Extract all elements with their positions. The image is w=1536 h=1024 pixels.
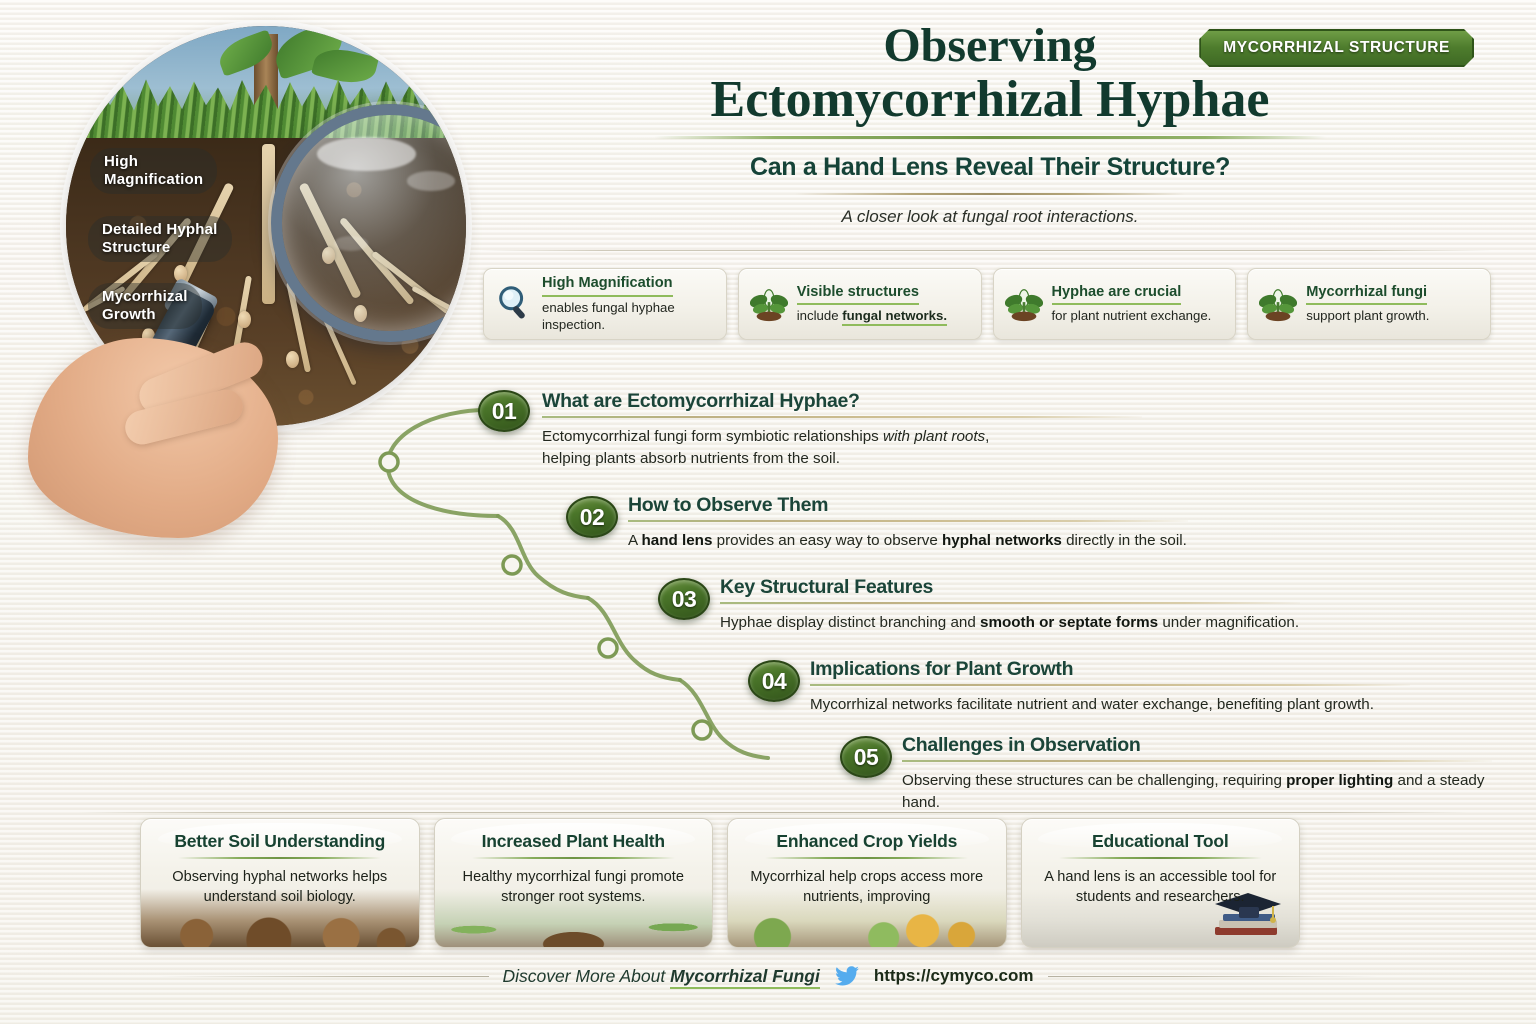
hero-label-mycorrhizal-growth: Mycorrhizal Growth (88, 283, 202, 329)
hero-label-high-magnification: High Magnification (90, 148, 217, 194)
step-title-rule (902, 760, 1492, 762)
infographic-page: High Magnification Detailed Hyphal Struc… (0, 0, 1536, 1024)
benefit-card-description: Healthy mycorrhizal fungi promote strong… (447, 868, 701, 907)
fact-card-detail: enables fungal hyphae inspection. (542, 300, 675, 333)
step-title-rule (542, 416, 1142, 418)
step-body: How to Observe ThemA hand lens provides … (628, 494, 1188, 552)
page-title-line2: Ectomycorrhizal Hyphae (490, 73, 1490, 126)
step-title: Challenges in Observation (902, 734, 1492, 757)
step-title-rule (720, 602, 1300, 604)
step-description: Ectomycorrhizal fungi form symbiotic rel… (542, 426, 1142, 469)
benefit-title-rule (178, 857, 381, 859)
footer-cta-bold: Mycorrhizal Fungi (670, 966, 820, 989)
step-number-badge[interactable]: 02 (566, 496, 618, 538)
step-number-badge[interactable]: 03 (658, 578, 710, 620)
fact-card-detail: support plant growth. (1306, 308, 1429, 323)
steps-timeline: 01What are Ectomycorrhizal Hyphae?Ectomy… (370, 378, 1490, 798)
title-underline-rule (654, 136, 1326, 139)
seedling-icon (750, 284, 788, 324)
benefit-card-title: Educational Tool (1034, 831, 1288, 852)
fact-card[interactable]: Visible structuresinclude fungal network… (738, 268, 982, 340)
step-body: Challenges in ObservationObserving these… (902, 734, 1492, 813)
fact-card-text: Mycorrhizal fungisupport plant growth. (1306, 283, 1429, 325)
fact-card-text: High Magnificationenables fungal hyphae … (542, 274, 715, 334)
fact-card-detail: for plant nutrient exchange. (1052, 308, 1212, 323)
step-number: 01 (492, 398, 517, 425)
page-subtitle: Can a Hand Lens Reveal Their Structure? (490, 153, 1490, 182)
seedling-icon (1259, 284, 1297, 324)
benefit-card-title: Better Soil Understanding (153, 831, 407, 852)
fact-card-headline: Visible structures (797, 283, 919, 305)
step-title-rule (810, 684, 1410, 686)
fact-detail-plain: include (797, 308, 842, 323)
benefits-divider (78, 812, 1468, 813)
step-body: What are Ectomycorrhizal Hyphae?Ectomyco… (542, 390, 1142, 469)
step-description: Observing these structures can be challe… (902, 770, 1492, 813)
benefit-title-rule (472, 857, 675, 859)
step-number-badge[interactable]: 01 (478, 390, 530, 432)
footer-rule-left (159, 976, 489, 977)
benefit-title-rule (765, 857, 968, 859)
footer-bar: Discover More About Mycorrhizal Fungi ht… (0, 965, 1536, 987)
fact-card-text: Hyphae are crucialfor plant nutrient exc… (1052, 283, 1212, 325)
subtitle-underline-rule (795, 193, 1185, 195)
step-number: 04 (762, 668, 787, 695)
step-description: A hand lens provides an easy way to obse… (628, 530, 1188, 552)
step-description: Hyphae display distinct branching and sm… (720, 612, 1300, 634)
page-tagline: A closer look at fungal root interaction… (490, 207, 1490, 227)
step-number: 05 (854, 744, 879, 771)
fact-card-headline: High Magnification (542, 274, 673, 296)
footer-url[interactable]: https://cymyco.com (874, 966, 1034, 986)
fact-card-row: High Magnificationenables fungal hyphae … (483, 268, 1491, 340)
benefit-card[interactable]: Educational ToolA hand lens is an access… (1021, 818, 1301, 948)
step-title: What are Ectomycorrhizal Hyphae? (542, 390, 1142, 413)
footer-rule-right (1048, 976, 1378, 977)
fact-card-text: Visible structuresinclude fungal network… (797, 283, 947, 325)
step-title: How to Observe Them (628, 494, 1188, 517)
step-number-badge[interactable]: 05 (840, 736, 892, 778)
step-body: Key Structural FeaturesHyphae display di… (720, 576, 1300, 634)
step-title-rule (628, 520, 1188, 522)
benefit-card[interactable]: Enhanced Crop YieldsMycorrhizal help cro… (727, 818, 1007, 948)
benefit-card[interactable]: Increased Plant HealthHealthy mycorrhiza… (434, 818, 714, 948)
fact-card[interactable]: High Magnificationenables fungal hyphae … (483, 268, 727, 340)
step-number-badge[interactable]: 04 (748, 660, 800, 702)
benefit-card[interactable]: Better Soil UnderstandingObserving hypha… (140, 818, 420, 948)
benefit-card-title: Increased Plant Health (447, 831, 701, 852)
twitter-bird-icon[interactable] (834, 965, 860, 987)
hero-label-detailed-hyphal-structure: Detailed Hyphal Structure (88, 216, 232, 262)
step-number: 03 (672, 586, 697, 613)
header-divider (480, 250, 1492, 251)
page-title-line1: Observing (490, 22, 1490, 71)
footer-cta-plain: Discover More About (503, 966, 671, 986)
benefit-card-title: Enhanced Crop Yields (740, 831, 994, 852)
fact-card-headline: Mycorrhizal fungi (1306, 283, 1427, 305)
fact-card[interactable]: Mycorrhizal fungisupport plant growth. (1247, 268, 1491, 340)
magnifier-icon (495, 284, 533, 324)
benefit-title-rule (1059, 857, 1262, 859)
header-block: Observing Ectomycorrhizal Hyphae Can a H… (490, 22, 1490, 227)
fact-detail-emphasis: fungal networks. (842, 308, 947, 326)
benefit-card-description: A hand lens is an accessible tool for st… (1034, 868, 1288, 907)
benefit-card-row: Better Soil UnderstandingObserving hypha… (140, 818, 1300, 948)
benefit-card-description: Observing hyphal networks helps understa… (153, 868, 407, 907)
seedling-icon (1005, 284, 1043, 324)
step-title: Implications for Plant Growth (810, 658, 1410, 681)
step-number: 02 (580, 504, 605, 531)
fact-card-headline: Hyphae are crucial (1052, 283, 1182, 305)
fact-card[interactable]: Hyphae are crucialfor plant nutrient exc… (993, 268, 1237, 340)
benefit-card-description: Mycorrhizal help crops access more nutri… (740, 868, 994, 907)
footer-cta-text: Discover More About Mycorrhizal Fungi (503, 966, 820, 987)
step-title: Key Structural Features (720, 576, 1300, 599)
step-body: Implications for Plant GrowthMycorrhizal… (810, 658, 1410, 716)
fact-card-detail: include fungal networks. (797, 308, 947, 326)
step-description: Mycorrhizal networks facilitate nutrient… (810, 694, 1410, 716)
